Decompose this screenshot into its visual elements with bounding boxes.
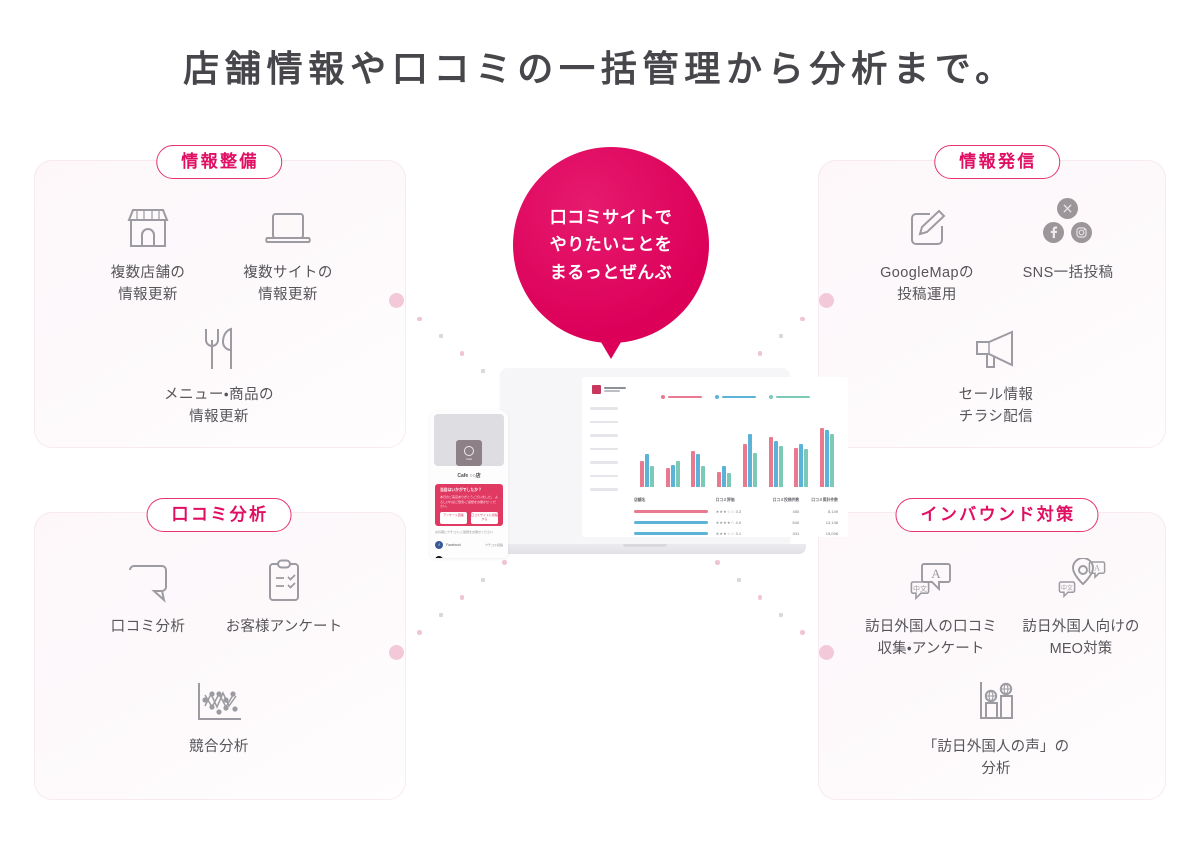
table-body: ★★★☆☆ 3.34508,139★★★★☆ 4.064013,138★★★☆☆… — [634, 506, 838, 537]
page-title: 店舗情報や口コミの一括管理から分析まで。 — [0, 40, 1200, 92]
feature-foreign-visitor-voice-analysis[interactable]: 「訪日外国人の声」の 分析 — [901, 672, 1091, 781]
col-rating: 口コミ評価 — [716, 498, 761, 503]
bar — [830, 434, 834, 487]
bar-group — [820, 428, 834, 487]
social-action[interactable]: クチコミ投稿 — [485, 543, 503, 547]
feature-customer-survey[interactable]: お客様アンケート — [189, 552, 379, 638]
social-label: Facebook — [446, 543, 482, 547]
laptop-lid: 店舗名 口コミ評価 口コミ投稿件数 口コミ累計件数 ★★★☆☆ 3.34508,… — [500, 368, 790, 546]
feature-menu-product-info-update[interactable]: メニュー・商品の 情報更新 — [144, 320, 294, 429]
feature-label: セール情報 チラシ配信 — [921, 384, 1071, 429]
x-icon: ✕ — [435, 556, 443, 559]
svg-text:中文: 中文 — [913, 584, 927, 593]
bar — [820, 428, 824, 487]
phone-store-name: Cafe ○○店 — [430, 472, 508, 479]
phone-social-row[interactable]: fFacebookクチコミ投稿 — [435, 537, 503, 552]
rating-stars: ★★★☆☆ — [716, 531, 735, 536]
survey-heading: 当店はいかがでしたか？ — [440, 488, 498, 493]
pill-review-analysis: 口コミ分析 — [147, 498, 292, 532]
col-posts: 口コミ投稿件数 — [760, 498, 799, 503]
bubble-tail — [598, 337, 624, 359]
bar — [696, 454, 700, 487]
center-bubble: 口コミサイトで やりたいことを まるっとぜんぶ — [513, 147, 709, 343]
bar — [748, 434, 752, 487]
store-name-bar — [634, 532, 708, 535]
phone-social-rows: fFacebookクチコミ投稿✕Xクチコミ投稿 — [435, 537, 503, 558]
col-total: 口コミ累計件数 — [799, 498, 838, 503]
bar — [717, 472, 721, 488]
dashboard-sidebar[interactable] — [590, 407, 618, 502]
table-row[interactable]: ★★★☆☆ 3.34508,139 — [634, 506, 838, 517]
bar — [753, 453, 757, 487]
phone-social-row[interactable]: ✕Xクチコミ投稿 — [435, 552, 503, 558]
logo-text: Cafe — [466, 457, 472, 461]
feature-foreign-visitor-meo[interactable]: A 中文 訪日外国人向けの MEO対策 — [986, 552, 1176, 661]
bar — [804, 449, 808, 487]
instagram-icon[interactable] — [1071, 222, 1092, 243]
survey-card: 当店はいかがでしたか？ 本日のご来店ありがとうございました。 よろしければご意見… — [435, 484, 503, 526]
feature-sns-bulk-post[interactable]: SNS一括投稿 — [993, 198, 1143, 284]
social-label: X — [446, 558, 482, 559]
bar — [701, 466, 705, 487]
bar — [727, 473, 731, 487]
bar — [645, 454, 649, 487]
center-bubble-text: 口コミサイトで やりたいことを まるっとぜんぶ — [550, 204, 673, 287]
connector-node-tr — [819, 293, 834, 308]
feature-label: お客様アンケート — [189, 616, 379, 638]
laptop-screen: 店舗名 口コミ評価 口コミ投稿件数 口コミ累計件数 ★★★☆☆ 3.34508,… — [582, 377, 848, 537]
laptop-base — [484, 544, 806, 554]
rating-value: 3.3 — [736, 509, 742, 514]
bar — [666, 468, 670, 487]
feature-label: 訪日外国人向けの MEO対策 — [986, 616, 1176, 661]
bar-group — [717, 466, 731, 487]
x-icon[interactable] — [1057, 198, 1078, 219]
rating-stars: ★★★★☆ — [716, 520, 735, 525]
bar-group — [769, 437, 783, 487]
bar — [799, 444, 803, 487]
survey-secondary-button[interactable]: 口コミサイトに投稿する — [471, 512, 498, 524]
social-action[interactable]: クチコミ投稿 — [485, 558, 503, 559]
laptop-icon — [213, 198, 363, 250]
survey-body: 本日のご来店ありがとうございました。 よろしければご意見・ご感想をお聞かせ くだ… — [440, 495, 498, 509]
connector-node-br — [819, 645, 834, 660]
svg-text:中文: 中文 — [1061, 584, 1073, 592]
svg-text:A: A — [1094, 564, 1100, 573]
bar — [676, 461, 680, 487]
device-mockup: 店舗名 口コミ評価 口コミ投稿件数 口コミ累計件数 ★★★☆☆ 3.34508,… — [430, 368, 790, 568]
feature-label: SNS一括投稿 — [993, 262, 1143, 284]
stores-table: 店舗名 口コミ評価 口コミ投稿件数 口コミ累計件数 ★★★☆☆ 3.34508,… — [634, 495, 838, 537]
bar-group — [691, 451, 705, 487]
feature-label: 競合分析 — [144, 736, 294, 758]
legend-bar — [776, 396, 810, 399]
table-row[interactable]: ★★★☆☆ 3.134115,098 — [634, 528, 838, 537]
feature-label: メニュー・商品の 情報更新 — [144, 384, 294, 429]
phone-mockup: Cafe Cafe ○○店 当店はいかがでしたか？ 本日のご来店ありがとうござい… — [430, 410, 508, 558]
social-cluster-icon — [993, 198, 1143, 250]
scatter-chart-icon — [144, 672, 294, 724]
bar-group — [743, 434, 757, 487]
brand-mark-icon — [592, 385, 601, 394]
dashboard-logo — [592, 385, 626, 394]
rating-stars: ★★★☆☆ — [716, 509, 735, 514]
bar-chart — [640, 425, 834, 487]
pill-info-publishing: 情報発信 — [934, 145, 1060, 179]
table-row[interactable]: ★★★★☆ 4.064013,138 — [634, 517, 838, 528]
rating-value: 3.1 — [736, 531, 742, 536]
table-header: 店舗名 口コミ評価 口コミ投稿件数 口コミ累計件数 — [634, 495, 838, 506]
bar-group — [640, 454, 654, 487]
bar — [722, 466, 726, 487]
post-count: 341 — [793, 531, 800, 536]
dashboard-main: 店舗名 口コミ評価 口コミ投稿件数 口コミ累計件数 ★★★☆☆ 3.34508,… — [626, 383, 844, 533]
legend-bar — [722, 396, 756, 399]
facebook-icon: f — [435, 541, 443, 549]
bar — [779, 446, 783, 487]
phone-store-logo: Cafe — [456, 440, 482, 466]
feature-label: GoogleMapの 投稿運用 — [852, 262, 1002, 307]
bar — [691, 451, 695, 487]
logo-ring-icon — [464, 446, 474, 456]
store-name-bar — [634, 521, 708, 524]
svg-text:A: A — [931, 566, 941, 581]
feature-sale-flyer-delivery[interactable]: セール情報 チラシ配信 — [921, 320, 1071, 429]
megaphone-icon — [921, 320, 1071, 372]
legend-dot-icon — [715, 395, 719, 399]
utensils-icon — [144, 320, 294, 372]
globe-bar-chart-icon — [901, 672, 1091, 724]
col-store-name: 店舗名 — [634, 498, 716, 503]
pill-info-maintenance: 情報整備 — [156, 145, 282, 179]
feature-competitor-analysis[interactable]: 競合分析 — [144, 672, 294, 758]
post-count: 450 — [793, 509, 800, 514]
legend-item — [769, 395, 810, 399]
rating-value: 4.0 — [736, 520, 742, 525]
bar — [650, 466, 654, 487]
facebook-icon[interactable] — [1043, 222, 1064, 243]
storefront-icon — [73, 198, 223, 250]
bar-group — [794, 444, 808, 487]
survey-primary-button[interactable]: アンケート回答 — [440, 512, 467, 524]
legend-item — [715, 395, 756, 399]
bar — [671, 465, 675, 487]
pencil-square-icon — [852, 198, 1002, 250]
bar — [769, 437, 773, 487]
post-count: 640 — [793, 520, 800, 525]
total-count: 8,139 — [828, 509, 838, 514]
bar — [640, 461, 644, 487]
bar — [774, 441, 778, 488]
legend-dot-icon — [661, 395, 665, 399]
total-count: 13,138 — [826, 520, 838, 525]
pill-inbound-measures: インバウンド対策 — [895, 498, 1098, 532]
bar — [825, 430, 829, 487]
legend-item — [661, 395, 702, 399]
brand-wordmark — [604, 387, 626, 393]
connector-node-bl — [389, 645, 404, 660]
bar — [743, 444, 747, 487]
feature-multi-store-info-update[interactable]: 複数店舗の 情報更新 — [73, 198, 223, 307]
store-name-bar — [634, 510, 708, 513]
feature-multi-site-info-update[interactable]: 複数サイトの 情報更新 — [213, 198, 363, 307]
feature-label: 「訪日外国人の声」の 分析 — [901, 736, 1091, 781]
bar — [794, 448, 798, 487]
feature-label: 複数サイトの 情報更新 — [213, 262, 363, 307]
total-count: 15,098 — [826, 531, 838, 536]
phone-note: お気軽にクチコミ・ご感想をお寄せください — [435, 530, 493, 534]
clipboard-check-icon — [189, 552, 379, 604]
legend-bar — [668, 396, 702, 399]
feature-googlemap-post-operation[interactable]: GoogleMapの 投稿運用 — [852, 198, 1002, 307]
connector-node-tl — [389, 293, 404, 308]
map-pin-translate-icon: A 中文 — [986, 552, 1176, 604]
bar-group — [666, 461, 680, 487]
legend-dot-icon — [769, 395, 773, 399]
feature-label: 複数店舗の 情報更新 — [73, 262, 223, 307]
chart-legend — [626, 395, 844, 399]
infographic-canvas: 店舗情報や口コミの一括管理から分析まで。 情報整備 情報発信 口コミ分析 インバ… — [0, 0, 1200, 846]
